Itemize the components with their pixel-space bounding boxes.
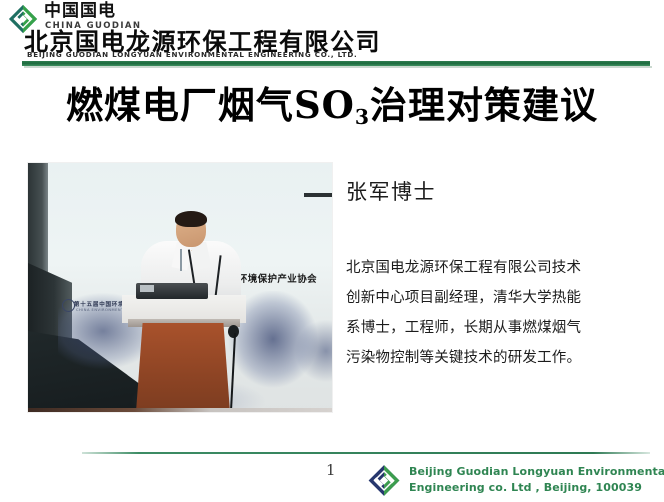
photo-laptop-screen [140,285,154,292]
slide-title: 燃煤电厂烟气SO3治理对策建议 [0,82,664,134]
footer-company-address: Beijing Guodian Longyuan Environmental E… [409,464,664,495]
guodian-longyuan-logo-icon [366,463,402,498]
title-formula-so: SO [294,83,355,127]
bio-line-1: 北京国电龙源环保工程有限公司技术 [346,253,648,283]
page-number: 1 [326,461,336,479]
speaker-bio: 北京国电龙源环保工程有限公司技术 创新中心项目副经理，清华大学热能 系博士，工程… [346,253,648,373]
bio-line-4: 污染物控制等关键技术的研发工作。 [346,343,648,373]
photo-bottom-strip [28,408,332,412]
speaker-photo: 中国环境保护产业协会 第十五届中国环境保护产业博览会 CHINA ENVIRON… [28,163,332,412]
footer-line-2: Engineering co. Ltd , Beijing, 100039 [409,480,664,496]
bio-line-2: 创新中心项目副经理，清华大学热能 [346,283,648,313]
title-part-1: 燃煤电厂烟气 [66,84,294,127]
photo-speaker-badge-lanyard [180,249,182,271]
photo-speaker-hair [175,211,207,227]
slide-canvas: 中国国电 CHINA GUODIAN 北京国电龙源环保工程有限公司 BEIJIN… [0,0,664,502]
slide-header: 中国国电 CHINA GUODIAN 北京国电龙源环保工程有限公司 BEIJIN… [0,0,664,70]
footer-line-1: Beijing Guodian Longyuan Environmental [409,464,664,480]
title-part-2: 治理对策建议 [370,84,598,127]
speaker-name: 张军博士 [346,178,436,206]
header-band-shadow [24,66,652,68]
bio-line-3: 系博士，工程师，长期从事燃煤烟气 [346,313,648,343]
brand-name-cn: 中国国电 [44,2,116,21]
photo-wall-marker [304,193,332,197]
photo-podium [136,323,230,412]
footer-divider [82,452,650,454]
company-name-en: BEIJING GUODIAN LONGYUAN ENVIRONMENTAL E… [27,51,358,59]
title-formula-subscript: 3 [355,105,370,129]
